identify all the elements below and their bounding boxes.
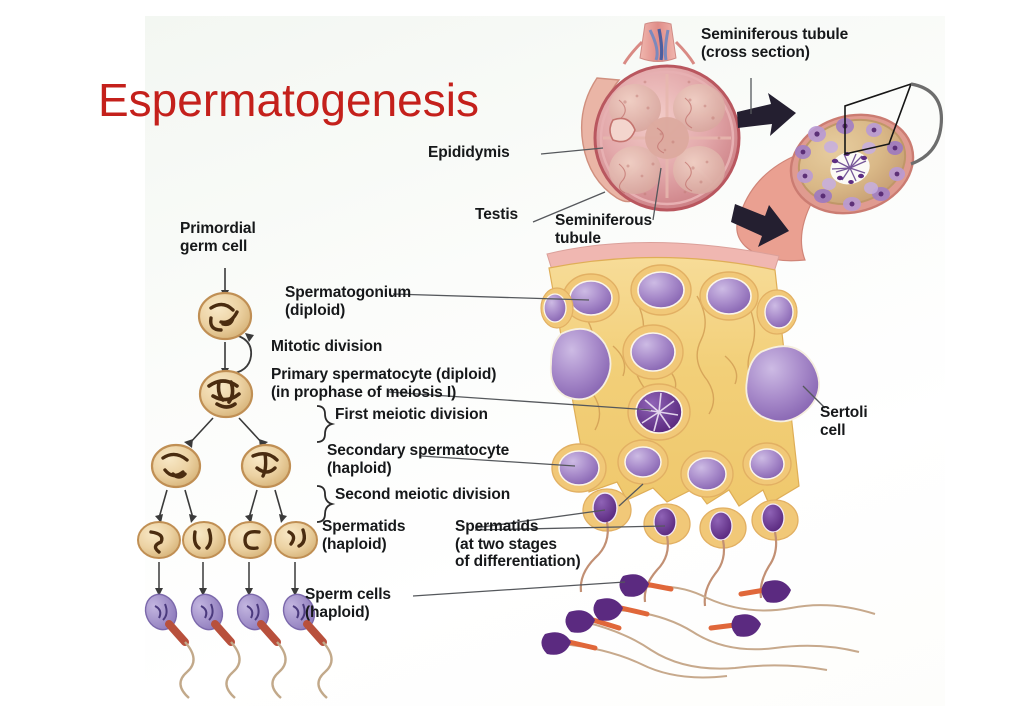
label-primary-spermatocyte: Primary spermatocyte (diploid) (in proph… [271,366,496,401]
label-seminiferous-tubule: Seminiferous tubule [555,212,652,247]
brace-first-meiotic [317,406,332,442]
label-second-meiotic-division: Second meiotic division [335,486,510,504]
cell-spermatid-3 [229,522,271,558]
cell-spermatid-4 [275,522,317,558]
brace-second-meiotic [317,486,332,522]
cell-secondary-spermatocyte-left [152,445,200,487]
sertoli-nucleus-right [746,346,819,421]
label-spermatids: Spermatids (haploid) [322,518,405,553]
flow-cells [138,293,317,558]
label-primordial-germ-cell: Primordial germ cell [180,220,256,255]
label-mitotic-division: Mitotic division [271,338,382,356]
cell-primary-spermatocyte [200,371,252,417]
label-first-meiotic-division: First meiotic division [335,406,488,424]
label-seminiferous-tubule-cross-section: Seminiferous tubule (cross section) [701,26,848,61]
sperm-cells-row [140,590,331,698]
label-secondary-spermatocyte: Secondary spermatocyte (haploid) [327,442,509,477]
seminiferous-epithelium-wedge [541,242,819,606]
free-sperm-cluster [541,574,875,677]
cell-spermatogonium [199,293,251,339]
sertoli-nucleus-left [551,329,611,399]
label-spermatogonium: Spermatogonium (diploid) [285,284,411,319]
label-epididymis: Epididymis [428,144,510,162]
cell-spermatid-1 [138,522,180,558]
label-testis: Testis [475,206,518,224]
label-sperm-cells: Sperm cells (haploid) [305,586,391,621]
arrow-testis-to-tubule [737,93,796,136]
slide-canvas: Seminiferous tubule (cross section) Epid… [0,0,1030,728]
page-title: Espermatogenesis [98,74,479,126]
cell-spermatid-2 [183,522,225,558]
label-sertoli-cell: Sertoli cell [820,404,868,439]
label-spermatids-two-stages: Spermatids (at two stages of differentia… [455,518,581,571]
cell-secondary-spermatocyte-right [242,445,290,487]
